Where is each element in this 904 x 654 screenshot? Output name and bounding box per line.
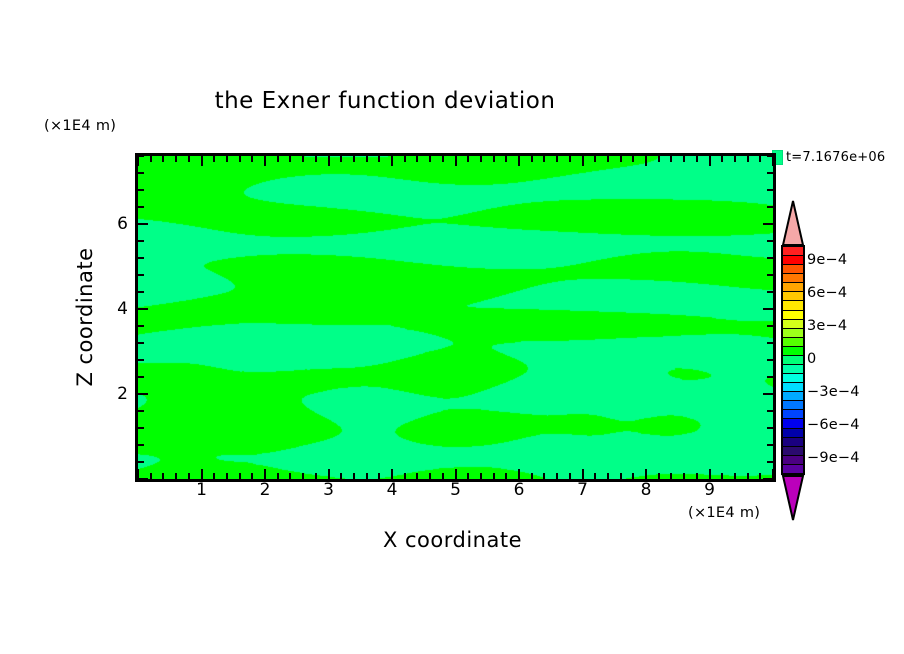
x-tick-top [759, 156, 761, 162]
x-tick [150, 473, 152, 479]
x-tick [759, 473, 761, 479]
x-tick-top [340, 156, 342, 162]
x-tick-top [658, 156, 660, 162]
x-tick [239, 473, 241, 479]
x-tick-top [543, 156, 545, 162]
x-tick-top [645, 156, 647, 166]
y-tick-right [767, 410, 773, 412]
x-tick [709, 469, 711, 479]
colorbar-band [783, 265, 803, 274]
colorbar-band [783, 392, 803, 401]
x-tick-top [747, 156, 749, 162]
x-tick [251, 473, 253, 479]
x-tick [201, 469, 203, 479]
x-tick [607, 473, 609, 479]
y-tick [138, 427, 144, 429]
x-tick [175, 473, 177, 479]
y-tick [138, 325, 144, 327]
colorbar-band [783, 438, 803, 447]
y-tick [138, 155, 144, 157]
y-tick-right [767, 325, 773, 327]
y-tick [138, 189, 144, 191]
y-tick [138, 274, 144, 276]
x-tick [480, 473, 482, 479]
y-tick-right [767, 291, 773, 293]
colorbar-band [783, 320, 803, 329]
x-tick [632, 473, 634, 479]
y-tick-right [767, 155, 773, 157]
x-tick-top [442, 156, 444, 162]
y-tick-right [767, 172, 773, 174]
colorbar-band [783, 338, 803, 347]
x-tick [747, 473, 749, 479]
y-tick [138, 308, 148, 310]
x-tick-top [328, 156, 330, 166]
colorbar-tick-label: −3e−4 [807, 384, 860, 400]
y-tick [138, 393, 148, 395]
colorbar-band [783, 247, 803, 256]
x-tick [645, 469, 647, 479]
x-tick-top [277, 156, 279, 162]
x-tick [670, 473, 672, 479]
x-tick-top [226, 156, 228, 162]
x-tick-top [556, 156, 558, 162]
x-tick [455, 469, 457, 479]
x-tick-top [378, 156, 380, 162]
x-tick [162, 473, 164, 479]
x-tick [442, 473, 444, 479]
y-tick-right [767, 359, 773, 361]
x-tick [226, 473, 228, 479]
time-annotation: t=7.1676e+06 [786, 150, 885, 165]
colorbar-band [783, 329, 803, 338]
x-tick-label: 6 [499, 480, 539, 500]
x-tick-top [239, 156, 241, 162]
x-tick [543, 473, 545, 479]
page-title: the Exner function deviation [0, 88, 770, 114]
x-tick-top [505, 156, 507, 162]
x-tick [721, 473, 723, 479]
y-tick [138, 291, 144, 293]
x-tick [518, 469, 520, 479]
y-axis-title: Z coordinate [73, 202, 97, 432]
x-tick-top [455, 156, 457, 166]
y-tick [138, 376, 144, 378]
y-tick [138, 257, 144, 259]
colorbar-band [783, 292, 803, 301]
x-tick-top [366, 156, 368, 162]
x-tick-top [493, 156, 495, 162]
x-tick [378, 473, 380, 479]
x-tick-top [518, 156, 520, 166]
x-tick [556, 473, 558, 479]
y-tick [138, 172, 144, 174]
colorbar-band [783, 429, 803, 438]
x-axis-unit-label: (×1E4 m) [688, 505, 760, 521]
x-tick-top [531, 156, 533, 162]
x-tick-label: 5 [436, 480, 476, 500]
x-tick [416, 473, 418, 479]
y-tick [138, 223, 148, 225]
x-tick-top [150, 156, 152, 162]
x-tick [531, 473, 533, 479]
x-tick-top [188, 156, 190, 162]
x-tick-top [632, 156, 634, 162]
colorbar-band [783, 365, 803, 374]
x-tick [213, 473, 215, 479]
colorbar-band [783, 283, 803, 292]
colorbar-band [783, 465, 803, 473]
colorbar-band [783, 356, 803, 365]
x-tick-top [264, 156, 266, 166]
y-tick-right [767, 376, 773, 378]
y-tick [138, 240, 144, 242]
colorbar-band [783, 301, 803, 310]
x-tick-label: 1 [182, 480, 222, 500]
x-tick-top [429, 156, 431, 162]
y-tick-right [767, 427, 773, 429]
x-tick-top [137, 156, 139, 166]
x-tick [328, 469, 330, 479]
x-tick [353, 473, 355, 479]
x-tick-top [696, 156, 698, 162]
x-tick-top [772, 156, 774, 166]
x-tick-label: 7 [563, 480, 603, 500]
x-tick [366, 473, 368, 479]
x-tick-label: 2 [245, 480, 285, 500]
y-tick-right [763, 393, 773, 395]
x-tick [734, 473, 736, 479]
colorbar-tick-label: −9e−4 [807, 450, 860, 466]
y-tick-right [767, 189, 773, 191]
x-tick [493, 473, 495, 479]
colorbar-band [783, 410, 803, 419]
colorbar-tick-label: 9e−4 [807, 252, 847, 268]
y-tick-right [767, 206, 773, 208]
x-tick-top [315, 156, 317, 162]
x-tick-top [162, 156, 164, 162]
x-tick [340, 473, 342, 479]
colorbar-tick-label: 0 [807, 351, 816, 367]
x-tick-top [620, 156, 622, 162]
x-tick [188, 473, 190, 479]
x-tick-label: 3 [309, 480, 349, 500]
x-tick-top [416, 156, 418, 162]
colorbar-tick-label: 3e−4 [807, 318, 847, 334]
colorbar[interactable]: 9e−46e−43e−40−3e−4−6e−4−9e−4 [781, 200, 805, 520]
x-tick [315, 473, 317, 479]
x-tick-top [709, 156, 711, 166]
colorbar-tick-label: 6e−4 [807, 285, 847, 301]
y-tick [138, 444, 144, 446]
colorbar-band [783, 419, 803, 428]
y-tick [138, 461, 144, 463]
x-tick [505, 473, 507, 479]
x-tick-top [721, 156, 723, 162]
y-tick [138, 359, 144, 361]
x-tick [391, 469, 393, 479]
x-tick [569, 473, 571, 479]
y-tick [138, 206, 144, 208]
x-tick-top [670, 156, 672, 162]
x-tick [429, 473, 431, 479]
x-tick [302, 473, 304, 479]
x-tick [683, 473, 685, 479]
colorbar-tick-label: −6e−4 [807, 417, 860, 433]
colorbar-band [783, 311, 803, 320]
x-tick [594, 473, 596, 479]
y-tick-right [763, 478, 773, 480]
y-tick-right [767, 240, 773, 242]
x-tick-top [201, 156, 203, 166]
colorbar-band [783, 347, 803, 356]
y-tick-right [763, 308, 773, 310]
colorbar-band [783, 401, 803, 410]
x-tick [582, 469, 584, 479]
contour-field [138, 156, 773, 479]
x-tick [467, 473, 469, 479]
x-tick-label: 8 [626, 480, 666, 500]
figure-canvas: the Exner function deviation (×1E4 m) t=… [0, 0, 904, 654]
x-tick-top [175, 156, 177, 162]
x-tick-top [683, 156, 685, 162]
x-tick-top [569, 156, 571, 162]
x-tick-top [734, 156, 736, 162]
y-tick-right [763, 223, 773, 225]
colorbar-bands [781, 245, 805, 475]
x-tick-top [213, 156, 215, 162]
y-tick [138, 410, 144, 412]
x-tick-top [353, 156, 355, 162]
x-tick [264, 469, 266, 479]
y-tick-right [767, 461, 773, 463]
x-tick-top [404, 156, 406, 162]
colorbar-band [783, 447, 803, 456]
x-axis-title: X coordinate [135, 528, 770, 552]
y-axis-unit-label: (×1E4 m) [44, 118, 116, 134]
colorbar-band [783, 256, 803, 265]
x-tick-label: 9 [690, 480, 730, 500]
y-tick-right [767, 257, 773, 259]
x-tick [277, 473, 279, 479]
colorbar-band [783, 456, 803, 465]
x-tick-top [594, 156, 596, 162]
plot-area [135, 153, 776, 482]
x-tick-label: 4 [372, 480, 412, 500]
x-tick-top [289, 156, 291, 162]
colorbar-band [783, 274, 803, 283]
x-tick-top [607, 156, 609, 162]
x-tick [404, 473, 406, 479]
colorbar-band [783, 383, 803, 392]
x-tick [289, 473, 291, 479]
y-tick-right [767, 342, 773, 344]
x-tick [658, 473, 660, 479]
x-tick-top [467, 156, 469, 162]
colorbar-over-arrow [781, 200, 805, 246]
y-tick-right [767, 444, 773, 446]
y-tick-right [767, 274, 773, 276]
x-tick [620, 473, 622, 479]
x-tick-top [251, 156, 253, 162]
colorbar-under-arrow [781, 475, 805, 521]
x-tick [696, 473, 698, 479]
x-tick-top [582, 156, 584, 166]
x-tick-top [391, 156, 393, 166]
colorbar-band [783, 374, 803, 383]
y-tick [138, 342, 144, 344]
x-tick-top [302, 156, 304, 162]
y-tick [138, 478, 148, 480]
x-tick-top [480, 156, 482, 162]
